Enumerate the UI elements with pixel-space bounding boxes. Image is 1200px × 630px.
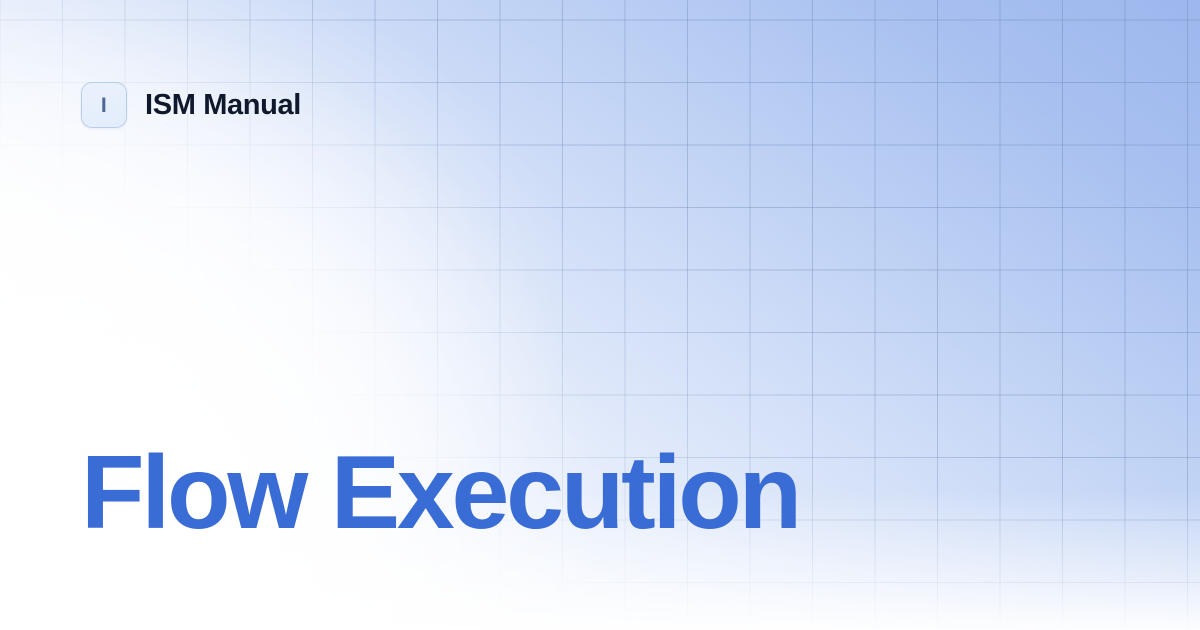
brand-row: I ISM Manual bbox=[81, 82, 301, 128]
ism-monogram-icon: I bbox=[81, 82, 127, 128]
page-title: Flow Execution bbox=[81, 438, 799, 548]
og-banner-card: I ISM Manual Flow Execution bbox=[0, 0, 1200, 630]
brand-name-label: ISM Manual bbox=[145, 89, 301, 122]
